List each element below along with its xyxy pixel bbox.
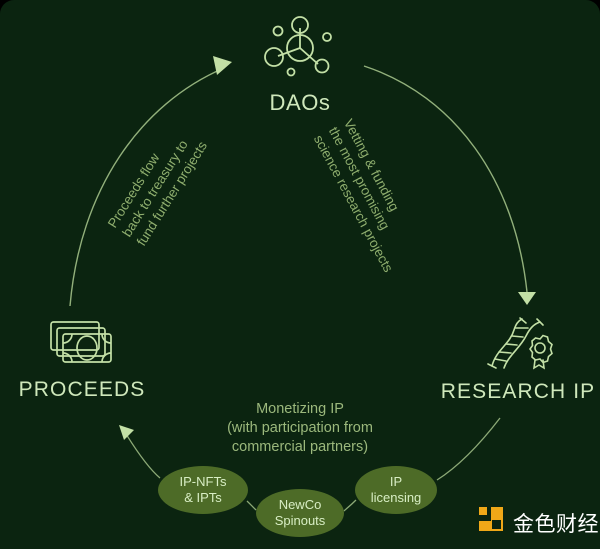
diagram-canvas: DAOs PROCEEDS bbox=[0, 0, 600, 549]
arc-ipnfts-to-proceeds bbox=[126, 434, 160, 478]
pill-ip-nfts[interactable]: IP-NFTs & IPTs bbox=[158, 466, 248, 514]
pill-newco-line-1: NewCo bbox=[275, 497, 326, 513]
node-proceeds[interactable]: PROCEEDS bbox=[4, 316, 160, 402]
banknotes-icon bbox=[45, 316, 119, 370]
node-proceeds-label: PROCEEDS bbox=[19, 378, 146, 402]
pill-ip-nfts-line-2: & IPTs bbox=[180, 490, 227, 506]
molecule-icon bbox=[256, 12, 344, 82]
arc-newco-to-ipnfts bbox=[247, 501, 256, 510]
watermark: 金色财经 bbox=[478, 506, 599, 539]
caption-line-2: (with participation from bbox=[180, 419, 420, 438]
pill-newco-spinouts[interactable]: NewCo Spinouts bbox=[256, 489, 344, 537]
monetizing-ip-caption: Monetizing IP (with participation from c… bbox=[180, 400, 420, 457]
arrowhead-to-research bbox=[518, 292, 536, 305]
node-research-label: RESEARCH IP bbox=[441, 380, 595, 404]
arrowhead-to-proceeds bbox=[119, 425, 134, 440]
arc-research-to-licensing bbox=[437, 418, 500, 480]
arc-licensing-to-newco bbox=[344, 500, 356, 511]
jinse-logo-mark-icon bbox=[478, 506, 506, 539]
pill-newco-line-2: Spinouts bbox=[275, 513, 326, 529]
node-research[interactable]: RESEARCH IP bbox=[440, 316, 596, 404]
caption-line-1: Monetizing IP bbox=[180, 400, 420, 419]
pill-ip-licensing-line-2: licensing bbox=[371, 490, 422, 506]
watermark-text: 金色财经 bbox=[513, 508, 599, 538]
node-daos-label: DAOs bbox=[269, 90, 330, 116]
dna-gear-icon bbox=[480, 316, 556, 372]
node-daos[interactable]: DAOs bbox=[234, 12, 366, 116]
pill-ip-licensing[interactable]: IP licensing bbox=[355, 466, 437, 514]
caption-line-3: commercial partners) bbox=[180, 438, 420, 457]
pill-ip-licensing-line-1: IP bbox=[371, 474, 422, 490]
pill-ip-nfts-line-1: IP-NFTs bbox=[180, 474, 227, 490]
